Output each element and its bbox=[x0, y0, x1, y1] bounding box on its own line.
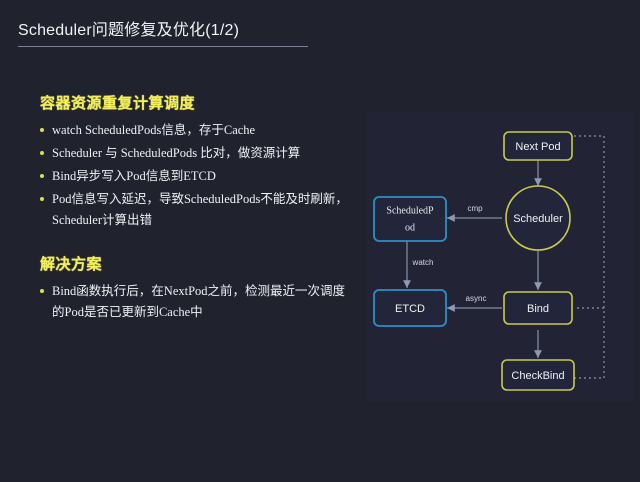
bullet-dot-icon bbox=[40, 289, 44, 293]
list-item: Bind函数执行后，在NextPod之前，检测最近一次调度的Pod是否已更新到C… bbox=[40, 281, 355, 323]
bullet-dot-icon bbox=[40, 174, 44, 178]
list-item-text: Pod信息写入延迟，导致ScheduledPods不能及时刷新，Schedule… bbox=[52, 192, 348, 227]
list-item-text: Bind函数执行后，在NextPod之前，检测最近一次调度的Pod是否已更新到C… bbox=[52, 284, 345, 319]
list-item: Scheduler 与 ScheduledPods 比对，做资源计算 bbox=[40, 143, 355, 164]
slide-title-block: Scheduler问题修复及优化(1/2) bbox=[18, 16, 308, 47]
checkbind-label: CheckBind bbox=[511, 370, 564, 382]
scheduler-label: Scheduler bbox=[513, 213, 563, 225]
problem-bullet-list: watch ScheduledPods信息，存于Cache Scheduler … bbox=[40, 120, 355, 231]
solution-bullet-list: Bind函数执行后，在NextPod之前，检测最近一次调度的Pod是否已更新到C… bbox=[40, 281, 355, 323]
list-item-text: watch ScheduledPods信息，存于Cache bbox=[52, 123, 255, 137]
list-item-text: Bind异步写入Pod信息到ETCD bbox=[52, 169, 216, 183]
diagram-edges bbox=[407, 136, 604, 378]
scheduler-flow-diagram: cmp watch async Next Pod Scheduler Bind … bbox=[366, 112, 634, 402]
edge-checkbind-nextpod-dotted bbox=[574, 136, 604, 378]
node-bind[interactable]: Bind bbox=[504, 292, 572, 324]
scheduledpod-label-line1: ScheduledP bbox=[386, 205, 434, 216]
node-checkbind[interactable]: CheckBind bbox=[502, 360, 574, 390]
list-item: Bind异步写入Pod信息到ETCD bbox=[40, 166, 355, 187]
bullet-dot-icon bbox=[40, 151, 44, 155]
bind-label: Bind bbox=[527, 303, 549, 315]
etcd-label: ETCD bbox=[395, 303, 425, 315]
content-column: 容器资源重复计算调度 watch ScheduledPods信息，存于Cache… bbox=[40, 92, 355, 325]
solution-heading: 解决方案 bbox=[40, 253, 355, 274]
edge-label-cmp: cmp bbox=[467, 204, 483, 213]
bullet-dot-icon bbox=[40, 197, 44, 201]
list-item: watch ScheduledPods信息，存于Cache bbox=[40, 120, 355, 141]
next-pod-label: Next Pod bbox=[515, 141, 560, 153]
node-scheduler[interactable]: Scheduler bbox=[506, 186, 570, 250]
title-underline bbox=[18, 46, 308, 47]
problem-block: 容器资源重复计算调度 watch ScheduledPods信息，存于Cache… bbox=[40, 92, 355, 231]
node-next-pod[interactable]: Next Pod bbox=[504, 132, 572, 160]
slide-canvas: Scheduler问题修复及优化(1/2) 容器资源重复计算调度 watch S… bbox=[0, 0, 640, 482]
list-item-text: Scheduler 与 ScheduledPods 比对，做资源计算 bbox=[52, 146, 300, 160]
node-etcd[interactable]: ETCD bbox=[374, 290, 446, 326]
page-title: Scheduler问题修复及优化(1/2) bbox=[18, 16, 308, 46]
scheduledpod-box[interactable] bbox=[374, 197, 446, 241]
list-item: Pod信息写入延迟，导致ScheduledPods不能及时刷新，Schedule… bbox=[40, 189, 355, 231]
bullet-dot-icon bbox=[40, 128, 44, 132]
scheduledpod-label-line2: od bbox=[405, 222, 415, 233]
node-scheduledpod[interactable]: ScheduledP od bbox=[374, 197, 446, 241]
edge-label-watch: watch bbox=[412, 258, 434, 267]
solution-block: 解决方案 Bind函数执行后，在NextPod之前，检测最近一次调度的Pod是否… bbox=[40, 253, 355, 323]
edge-label-async: async bbox=[466, 294, 487, 303]
problem-heading: 容器资源重复计算调度 bbox=[40, 92, 355, 113]
